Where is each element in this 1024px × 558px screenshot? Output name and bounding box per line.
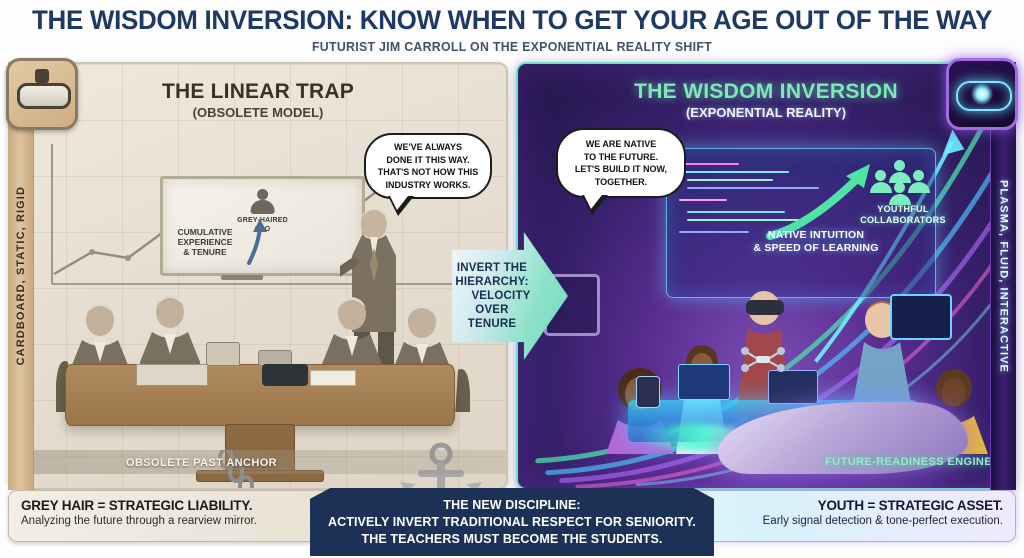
bubble-right-tail-inner — [584, 195, 602, 209]
right-panel-wisdom-inversion: THE WISDOM INVERSION (EXPONENTIAL REALIT… — [516, 62, 1016, 490]
center-arrow-line1: INVERT THE — [457, 262, 545, 274]
page-title: THE WISDOM INVERSION: KNOW WHEN TO GET Y… — [20, 0, 1003, 36]
axis-label-line3: & TENURE — [169, 247, 241, 257]
left-strip-text: CARDBOARD, STATIC, RIGID — [15, 186, 27, 365]
obsolete-past-anchor-caption: OBSOLETE PAST ANCHOR — [126, 457, 277, 469]
infographic-canvas: THE WISDOM INVERSION: KNOW WHEN TO GET Y… — [0, 0, 1024, 558]
vr-headset-badge — [946, 58, 1018, 130]
newspaper-icon — [136, 364, 208, 386]
speech-bubble-left: WE'VE ALWAYS DONE IT THIS WAY. THAT'S NO… — [364, 133, 492, 199]
speech-bubble-right: WE ARE NATIVE TO THE FUTURE. LET'S BUILD… — [556, 128, 686, 198]
collab-line1: YOUTHFUL — [848, 204, 958, 215]
laptop-icon — [678, 364, 730, 400]
bubble-left-line1: WE'VE ALWAYS — [378, 141, 478, 154]
future-readiness-engine-caption: FUTURE-READINESS ENGINE — [825, 456, 992, 468]
monitor-icon — [890, 294, 952, 340]
header: THE WISDOM INVERSION: KNOW WHEN TO GET Y… — [0, 0, 1024, 58]
paper-document-icon — [310, 370, 356, 386]
whiteboard: GREY-HAIRED CEO CUMULATIVE EXPERIENCE & … — [160, 176, 365, 276]
tablet-icon — [636, 376, 660, 408]
conference-table — [65, 364, 455, 426]
footer-center-line2: ACTIVELY INVERT TRADITIONAL RESPECT FOR … — [310, 514, 714, 531]
left-panel-subtitle: (OBSOLETE MODEL) — [10, 105, 506, 120]
drone-icon — [740, 346, 786, 372]
bubble-left-tail-inner — [390, 196, 408, 210]
native-line2: & SPEED OF LEARNING — [726, 242, 906, 255]
left-panel-title: THE LINEAR TRAP — [10, 80, 506, 104]
right-strip-text: PLASMA, FLUID, INTERACTIVE — [998, 180, 1010, 373]
native-intuition-label: NATIVE INTUITION & SPEED OF LEARNING — [726, 229, 906, 255]
bubble-right-line2: TO THE FUTURE. — [575, 151, 667, 164]
axis-label-line1: CUMULATIVE — [169, 227, 241, 237]
mirror-stem — [35, 69, 49, 83]
native-line1: NATIVE INTUITION — [726, 229, 906, 242]
page-subtitle: FUTURIST JIM CARROLL ON THE EXPONENTIAL … — [26, 39, 999, 54]
left-panel-linear-trap: THE LINEAR TRAP (OBSOLETE MODEL) GREY-HA… — [8, 62, 508, 490]
laptop-icon — [768, 370, 818, 404]
axis-label-line2: EXPERIENCE — [169, 237, 241, 247]
footer-center-banner: THE NEW DISCIPLINE: ACTIVELY INVERT TRAD… — [310, 488, 714, 556]
up-arrow-icon — [245, 217, 275, 265]
center-arrow-line4: TENURE — [468, 318, 534, 330]
bubble-right-line3: LET'S BUILD IT NOW, — [575, 163, 667, 176]
footer-center-line3: THE TEACHERS MUST BECOME THE STUDENTS. — [310, 531, 714, 548]
right-panel-subtitle: (EXPONENTIAL REALITY) — [518, 105, 1014, 120]
whiteboard-marker-tray — [221, 275, 263, 280]
bubble-left-line2: DONE IT THIS WAY. — [378, 154, 478, 167]
code-line — [687, 179, 773, 181]
code-line — [679, 163, 739, 165]
center-arrow-text: INVERT THE HIERARCHY: VELOCITY OVER TENU… — [452, 261, 568, 331]
bubble-left-line3: THAT'S NOT HOW THIS — [378, 166, 478, 179]
code-line — [679, 199, 727, 201]
center-arrow-line3: VELOCITY OVER — [471, 290, 530, 316]
youthful-collaborators-label: YOUTHFUL COLLABORATORS — [848, 204, 958, 226]
footer-center-line1: THE NEW DISCIPLINE: — [310, 497, 714, 514]
right-panel-title: THE WISDOM INVERSION — [518, 80, 1014, 104]
rolodex-icon — [206, 342, 240, 366]
collaborators-people-icon — [870, 160, 930, 204]
ceo-person-icon — [249, 189, 275, 215]
bubble-left-line4: INDUSTRY WORKS. — [378, 179, 478, 192]
cumulative-experience-label: CUMULATIVE EXPERIENCE & TENURE — [169, 227, 241, 257]
rearview-mirror-icon — [17, 83, 71, 109]
bubble-right-line4: TOGETHER. — [575, 176, 667, 189]
desk-phone-icon — [262, 364, 308, 386]
collab-line2: COLLABORATORS — [848, 215, 958, 226]
vr-glow-core — [971, 83, 993, 105]
center-arrow-line2: HIERARCHY: — [455, 276, 546, 288]
rearview-mirror-badge — [6, 58, 78, 130]
bubble-right-line1: WE ARE NATIVE — [575, 138, 667, 151]
